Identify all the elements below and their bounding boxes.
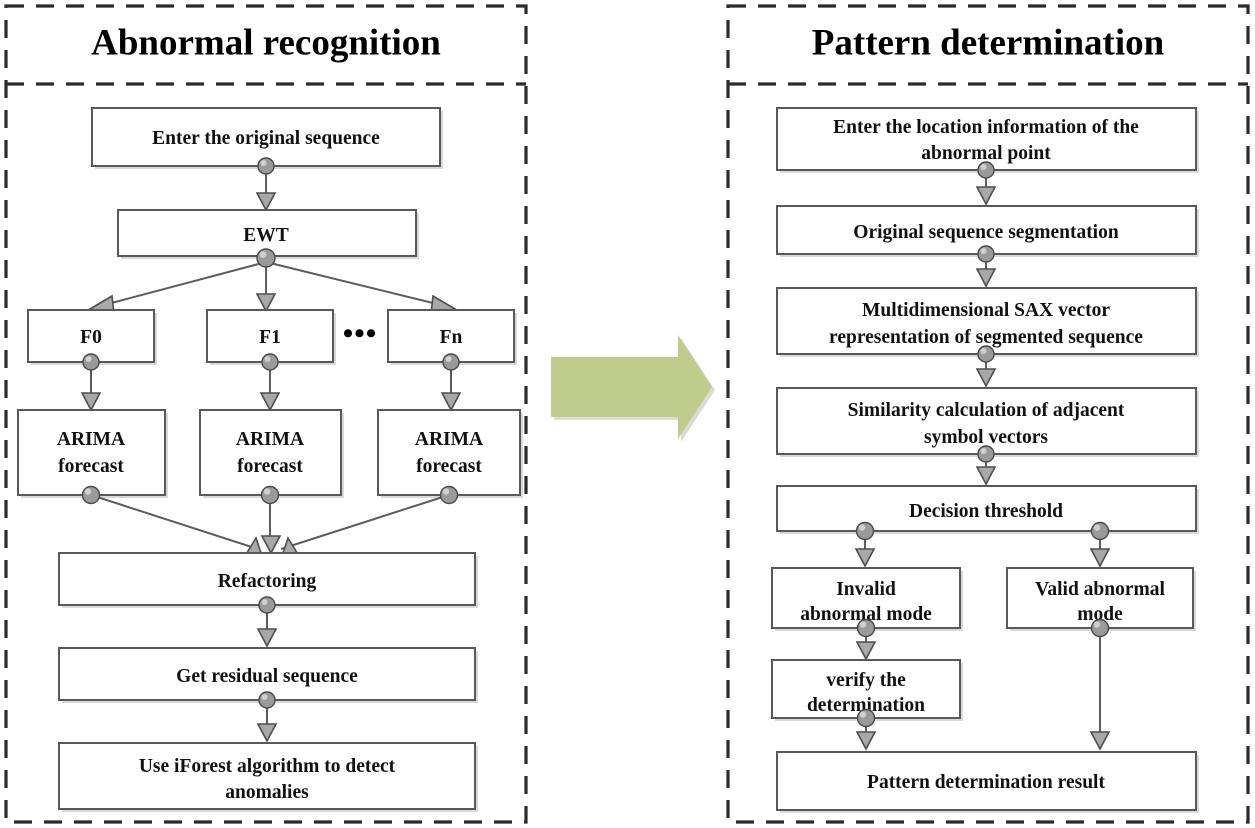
node-label-arima-forecast-1-line1: ARIMA [236, 429, 304, 450]
node-label-fn: Fn [440, 327, 463, 348]
node-label-pattern-determination-result: Pattern determination result [867, 772, 1105, 793]
node-label-enter-location-info-line1: Enter the location information of the [833, 117, 1139, 138]
node-label-ewt: EWT [243, 225, 289, 246]
panel-title-pattern-determination: Pattern determination [812, 22, 1165, 63]
node-label-verify-line1: verify the [826, 670, 906, 691]
node-label-refactoring: Refactoring [218, 571, 317, 592]
connector-threshold-to-invalid [856, 523, 874, 567]
node-arima-forecast-1: ARIMA forecast [200, 410, 344, 498]
node-label-detect-anomalies-line1: Use iForest algorithm to detect [139, 756, 396, 777]
node-label-enter-original-sequence: Enter the original sequence [152, 128, 380, 149]
node-label-decision-threshold: Decision threshold [909, 501, 1063, 522]
node-label-arima-forecast-n-line1: ARIMA [415, 429, 483, 450]
node-label-sax-vector-line2: representation of segmented sequence [829, 327, 1143, 348]
connector-f1-to-arima1 [261, 354, 279, 410]
connector-invalid-to-verify [857, 620, 875, 660]
node-label-enter-location-info-line2: abnormal point [921, 143, 1051, 164]
connector-enter-to-ewt [257, 158, 275, 210]
node-label-f0: F0 [80, 327, 102, 348]
node-pattern-determination-result: Pattern determination result [777, 752, 1199, 813]
node-decision-threshold: Decision threshold [777, 486, 1199, 534]
node-label-get-residual-sequence: Get residual sequence [176, 666, 358, 687]
connector-segmentation-to-sax [977, 246, 995, 286]
node-label-original-sequence-segmentation: Original sequence segmentation [853, 222, 1119, 243]
node-arima-forecast-0: ARIMA forecast [18, 410, 168, 498]
node-detect-anomalies: Use iForest algorithm to detect anomalie… [59, 743, 478, 812]
node-arima-forecast-n: ARIMA forecast [378, 410, 523, 498]
node-label-arima-forecast-1-line2: forecast [237, 456, 303, 477]
node-label-valid-line1: Valid abnormal [1035, 579, 1165, 600]
connector-threshold-to-valid [1091, 523, 1109, 567]
flowchart-svg: Abnormal recognition Enter the original … [0, 0, 1255, 828]
stage-transition-arrow [551, 335, 715, 442]
node-label-similarity-line1: Similarity calculation of adjacent [848, 400, 1125, 421]
connector-f0-to-arima0 [82, 354, 100, 410]
connector-valid-to-result [1091, 620, 1109, 750]
ellipsis-between-f1-fn: ••• [343, 317, 378, 350]
node-label-invalid-line1: Invalid [836, 579, 896, 600]
panel-title-abnormal-recognition: Abnormal recognition [91, 22, 441, 63]
node-label-detect-anomalies-line2: anomalies [225, 782, 309, 803]
node-label-arima-forecast-n-line2: forecast [416, 456, 482, 477]
node-label-similarity-line2: symbol vectors [924, 427, 1048, 448]
connector-location-to-segmentation [977, 162, 995, 204]
node-label-sax-vector-line1: Multidimensional SAX vector [862, 300, 1110, 321]
connector-sax-to-similarity [977, 346, 995, 386]
node-label-f1: F1 [259, 327, 281, 348]
connector-similarity-to-threshold [977, 446, 995, 484]
node-label-arima-forecast-0-line2: forecast [58, 456, 124, 477]
connector-refactoring-to-residual [258, 597, 276, 646]
node-label-arima-forecast-0-line1: ARIMA [57, 429, 125, 450]
connector-fn-to-arima-n [442, 354, 460, 410]
flowchart-figure: Abnormal recognition Enter the original … [0, 0, 1255, 828]
connector-residual-to-iforest [258, 692, 276, 741]
connector-verify-to-result [857, 710, 875, 750]
